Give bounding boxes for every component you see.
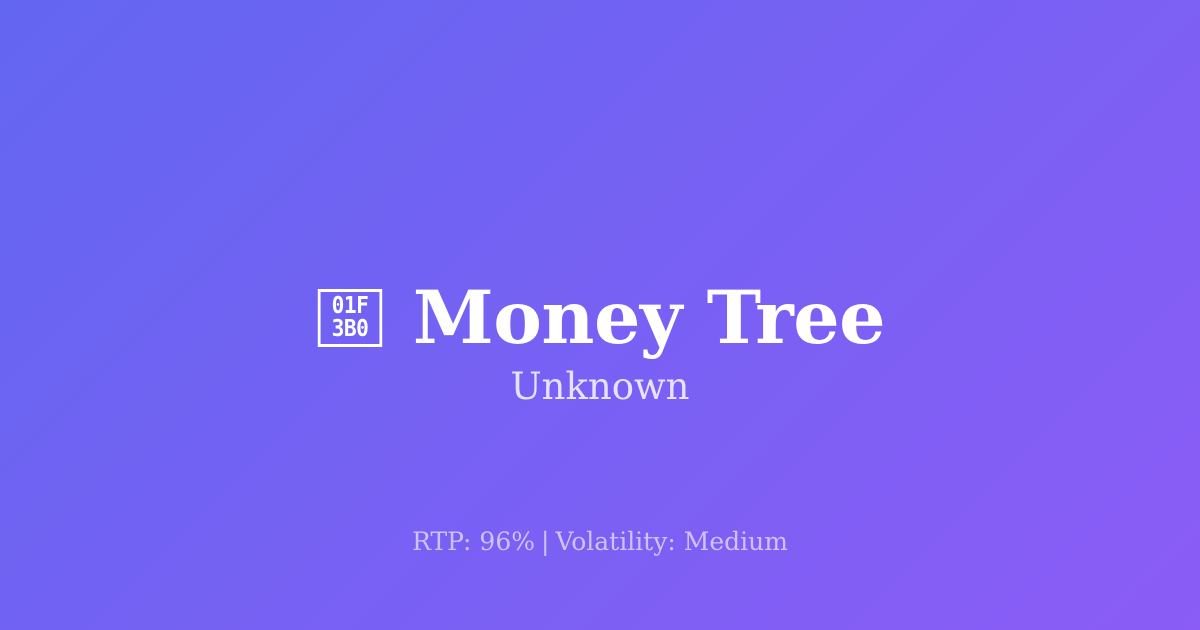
- provider-subtitle: Unknown: [0, 366, 1200, 409]
- game-og-card: 01F 3B0 Money Tree Unknown RTP: 96%|Vola…: [0, 0, 1200, 630]
- game-meta-line: RTP: 96%|Volatility: Medium: [0, 527, 1200, 557]
- tofu-codepoint-top: 01F: [331, 295, 368, 318]
- slot-machine-emoji-tofu-icon: 01F 3B0: [318, 289, 382, 347]
- tofu-codepoint-bottom: 3B0: [331, 318, 368, 341]
- page-title: Money Tree: [413, 280, 885, 357]
- volatility-value: Volatility: Medium: [555, 527, 787, 556]
- meta-separator: |: [535, 527, 555, 556]
- rtp-value: RTP: 96%: [412, 527, 535, 556]
